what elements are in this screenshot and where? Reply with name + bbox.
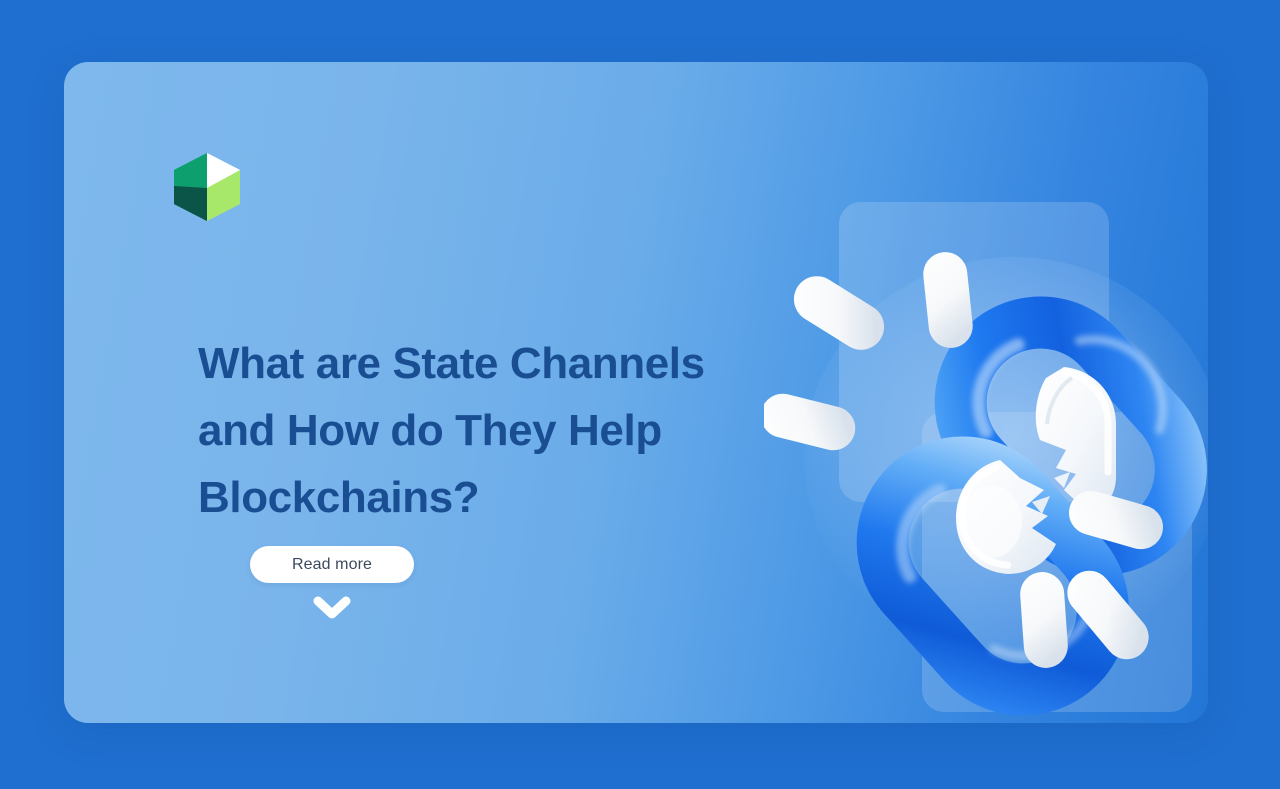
hero-copy: What are State Channels and How do They …: [198, 330, 798, 531]
chevron-down-icon[interactable]: [313, 595, 351, 621]
hero-card: What are State Channels and How do They …: [64, 62, 1208, 723]
page-canvas: What are State Channels and How do They …: [0, 0, 1280, 789]
brand-logo-icon[interactable]: [170, 152, 244, 222]
spark-capsule: [1019, 571, 1070, 670]
read-more-button[interactable]: Read more: [250, 546, 414, 583]
cta-group: Read more: [250, 546, 414, 583]
page-title: What are State Channels and How do They …: [198, 330, 788, 531]
broken-chain-illustration: [764, 172, 1208, 723]
